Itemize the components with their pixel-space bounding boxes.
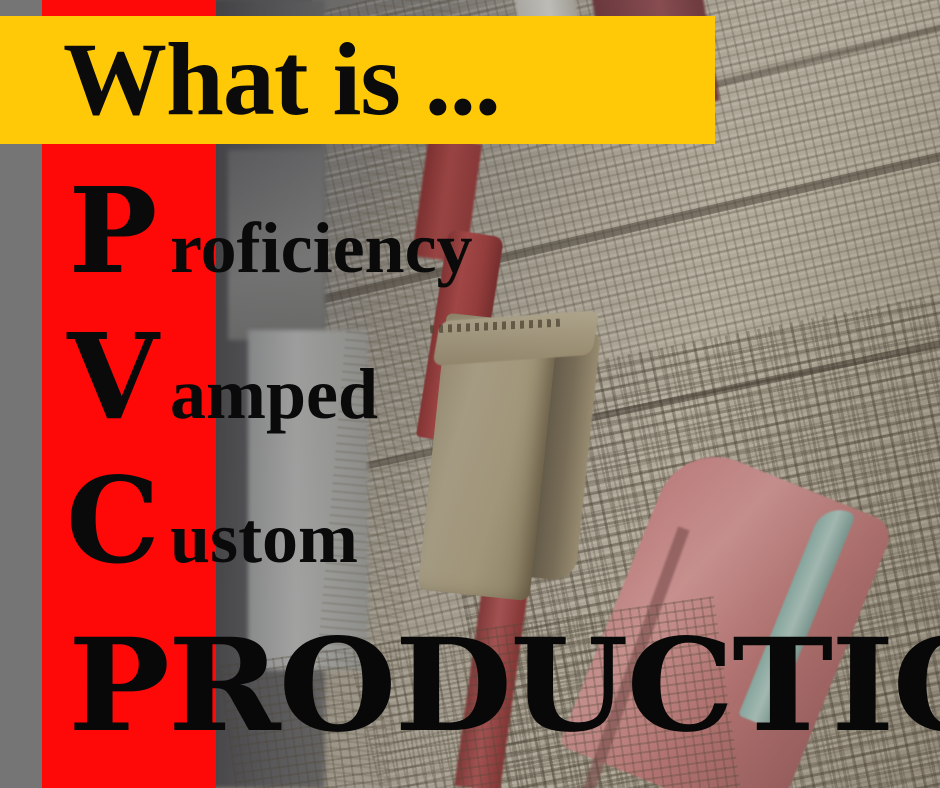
poster-canvas: What is ... P roficiency V amped C ustom…	[0, 0, 940, 788]
headline-text: What is ...	[63, 16, 703, 144]
acronym-row-c: C ustom	[58, 462, 358, 580]
acronym-letter-c: C	[58, 462, 168, 580]
acronym-letter-v: V	[58, 318, 168, 436]
acronym-letter-p: P	[58, 172, 168, 290]
acronym-word-proficiency: roficiency	[170, 212, 473, 284]
acronym-row-v: V amped	[58, 318, 378, 436]
acronym-word-vamped: amped	[170, 358, 378, 430]
wordmark-productions: PRODUCTIONS	[68, 622, 940, 750]
acronym-row-p: P roficiency	[58, 172, 473, 290]
acronym-word-custom: ustom	[170, 502, 358, 574]
